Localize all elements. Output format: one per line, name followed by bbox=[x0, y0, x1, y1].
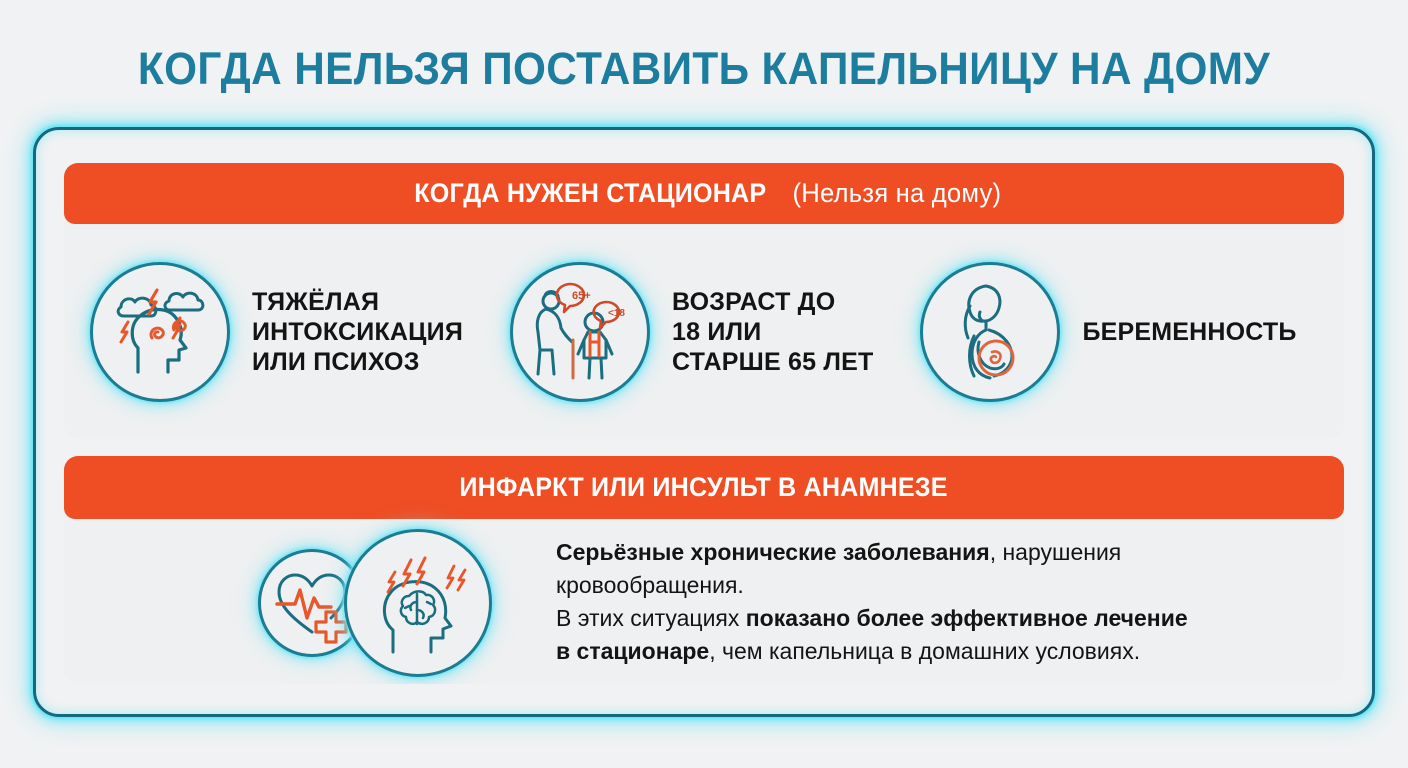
pregnant-woman-icon bbox=[920, 262, 1060, 402]
anamnesis-rest-1: , нарушения bbox=[990, 539, 1122, 565]
section-hospital-header-bar: КОГДА НУЖЕН СТАЦИОНАР (Нельзя на дому) bbox=[64, 163, 1344, 224]
head-brain-pain-icon bbox=[344, 529, 492, 677]
anamnesis-line-2: кровообращения. bbox=[556, 572, 744, 598]
head-storm-psychosis-icon bbox=[90, 262, 230, 402]
anamnesis-paragraph: Серьёзные хронические заболевания, наруш… bbox=[556, 536, 1188, 668]
anamnesis-paragraph-1: Серьёзные хронические заболевания, наруш… bbox=[556, 536, 1188, 602]
anamnesis-body: Серьёзные хронические заболевания, наруш… bbox=[64, 519, 1344, 684]
elderly-and-child-age-icon: 65+ <18 bbox=[510, 262, 650, 402]
anamnesis-bold-1: Серьёзные хронические заболевания bbox=[556, 539, 990, 565]
anamnesis-bold-4: в стационаре bbox=[556, 638, 709, 664]
section-anamnesis-header-bar: ИНФАРКТ ИЛИ ИНСУЛЬТ В АНАМНЕЗЕ bbox=[64, 456, 1344, 519]
infographic-frame: КОГДА НУЖЕН СТАЦИОНАР (Нельзя на дому) bbox=[33, 127, 1375, 717]
svg-text:<18: <18 bbox=[608, 308, 625, 319]
item-age-label: ВОЗРАСТ ДО 18 ИЛИ СТАРШЕ 65 ЛЕТ bbox=[672, 287, 873, 377]
svg-text:65+: 65+ bbox=[572, 290, 591, 302]
item-pregnancy-label: БЕРЕМЕННОСТЬ bbox=[1082, 317, 1296, 347]
page-title: КОГДА НЕЛЬЗЯ ПОСТАВИТЬ КАПЕЛЬНИЦУ НА ДОМ… bbox=[42, 44, 1366, 94]
anamnesis-rest-4: , чем капельница в домашних условиях. bbox=[709, 638, 1140, 664]
item-age-restriction: 65+ <18 ВОЗРАСТ ДО 18 ИЛИ СТАРШЕ 65 ЛЕТ bbox=[510, 262, 873, 402]
section-hospital-required: КОГДА НУЖЕН СТАЦИОНАР (Нельзя на дому) bbox=[64, 163, 1344, 439]
hospital-items-row: ТЯЖЁЛАЯ ИНТОКСИКАЦИЯ ИЛИ ПСИХОЗ bbox=[64, 224, 1344, 439]
anamnesis-bold-3: показано более эффективное лечение bbox=[746, 605, 1188, 631]
anamnesis-paragraph-2: В этих ситуациях показано более эффектив… bbox=[556, 602, 1188, 668]
anamnesis-pre-3: В этих ситуациях bbox=[556, 605, 746, 631]
section-hospital-title: КОГДА НУЖЕН СТАЦИОНАР bbox=[415, 178, 767, 209]
section-anamnesis: ИНФАРКТ ИЛИ ИНСУЛЬТ В АНАМНЕЗЕ bbox=[64, 456, 1344, 684]
item-pregnancy: БЕРЕМЕННОСТЬ bbox=[920, 262, 1296, 402]
anamnesis-icon-group bbox=[258, 527, 516, 677]
item-intoxication-label: ТЯЖЁЛАЯ ИНТОКСИКАЦИЯ ИЛИ ПСИХОЗ bbox=[252, 287, 463, 377]
section-hospital-subtitle: (Нельзя на дому) bbox=[792, 178, 1001, 209]
section-anamnesis-title: ИНФАРКТ ИЛИ ИНСУЛЬТ В АНАМНЕЗЕ bbox=[460, 472, 948, 503]
item-intoxication-psychosis: ТЯЖЁЛАЯ ИНТОКСИКАЦИЯ ИЛИ ПСИХОЗ bbox=[90, 262, 463, 402]
